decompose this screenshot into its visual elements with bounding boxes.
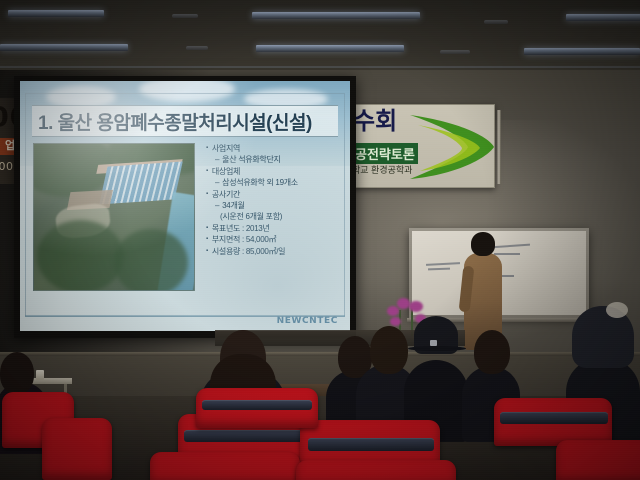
bullet-item: 대상업체: [206, 166, 344, 177]
banner-right-department: 학교 환경공학과: [352, 163, 412, 176]
ceiling-light-fixture: [524, 48, 640, 55]
flower-bloom: [397, 298, 410, 309]
cap-logo-patch: [430, 340, 437, 346]
projection-screen-frame: 1. 울산 용암폐수종말처리시설(신설) 사업지역 울산 석유화학단지: [14, 76, 356, 338]
whiteboard-writing: [428, 268, 450, 270]
ceiling-vent: [172, 14, 198, 18]
bullet-item: 울산 석유화학단지: [206, 154, 344, 165]
flower-bloom: [409, 301, 423, 312]
whiteboard-writing: [426, 262, 460, 265]
bullet-item: 사업지역: [206, 143, 344, 154]
slide-aerial-photo: [33, 143, 195, 291]
ceiling-vent: [484, 20, 508, 24]
ceiling-vent: [186, 46, 208, 50]
attendee-head: [474, 330, 510, 374]
bullet-item: (시운전 6개월 포함): [206, 211, 344, 222]
ceiling-vent: [440, 50, 470, 54]
banner-support-pole: [497, 110, 501, 184]
bullet-item: 34개월: [206, 200, 344, 211]
foliage: [37, 220, 123, 291]
green-swoosh-icon: [406, 109, 495, 185]
ceiling-light-fixture: [256, 45, 404, 52]
cap-brim: [408, 346, 466, 351]
flower-bloom: [390, 317, 401, 326]
ceiling-light-fixture: [566, 14, 640, 21]
seat-back-bar: [308, 438, 434, 451]
ceiling-light-fixture: [0, 44, 128, 51]
auditorium-seat[interactable]: [42, 418, 112, 480]
ceiling-light-fixture: [252, 12, 420, 19]
slide-title: 1. 울산 용암폐수종말처리시설(신설): [32, 108, 312, 135]
ceiling-seam: [0, 66, 640, 68]
bullet-item: 부지면적 : 54,000㎡: [206, 234, 344, 245]
slide-title-bar: 1. 울산 용암폐수종말처리시설(신설): [32, 105, 338, 137]
ceiling: [0, 0, 640, 72]
treatment-basins: [100, 162, 183, 205]
banner-right: 수회 공전략토론 학교 환경공학과: [349, 104, 495, 188]
foliage: [114, 229, 188, 291]
attendee-head: [370, 326, 408, 374]
flower-bloom: [387, 306, 399, 316]
bullet-item: 삼성석유화학 외 19개소: [206, 177, 344, 188]
attendee-head: [0, 352, 34, 394]
presentation-slide: 1. 울산 용암폐수종말처리시설(신설) 사업지역 울산 석유화학단지: [20, 81, 350, 331]
auditorium-seat[interactable]: [150, 452, 300, 480]
presenter-head: [471, 232, 495, 256]
auditorium-seat[interactable]: [556, 440, 640, 480]
banner-right-subtitle: 공전략토론: [352, 143, 418, 164]
bullet-item: 공사기간: [206, 189, 344, 200]
projection-screen: 1. 울산 용암폐수종말처리시설(신설) 사업지역 울산 석유화학단지: [20, 81, 350, 331]
slide-bullet-list: 사업지역 울산 석유화학단지 대상업체 삼성석유화학 외 19개소 공사기간 3…: [206, 143, 344, 257]
seat-back-bar: [202, 400, 312, 410]
banner-right-title: 수회: [353, 109, 397, 135]
ceiling-light-fixture: [8, 10, 104, 17]
seat-back-bar: [184, 430, 304, 442]
newcntec-logo: NEWCNTEC: [277, 316, 338, 326]
auditorium-seat[interactable]: [296, 460, 456, 480]
lecture-hall-photo: 00 업 2009 수회 공전략토론 학교 환경공학과: [0, 0, 640, 480]
wall-gap: [606, 302, 628, 318]
bullet-item: 목표년도 : 2013년: [206, 223, 344, 234]
seat-back-bar: [500, 412, 608, 424]
bullet-item: 시설용량 : 85,000㎡/일: [206, 246, 344, 257]
